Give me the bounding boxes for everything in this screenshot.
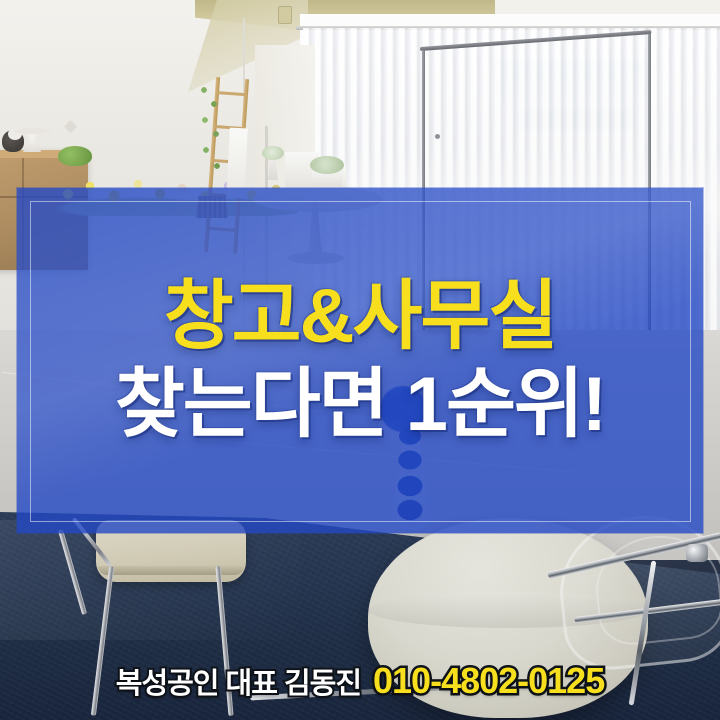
planter-greenery [310,156,344,174]
ivy-vine [198,82,230,182]
chrome-joint-knob [686,544,708,562]
phone-number[interactable]: 010-4802-0125 [373,660,604,702]
small-vase-greenery [262,146,284,160]
promo-banner: 창고&사무실 찾는다면 1순위! 복성공인 대표 김동진 010-4802-01… [0,0,720,720]
headline-line-2: 찾는다면 1순위! [115,366,605,444]
cream-chair-edge [98,566,244,575]
clothing-rack-knob [435,134,440,139]
wall-outlet [278,6,292,24]
agency-name: 복성공인 대표 김동진 [116,660,361,702]
contact-footer: 복성공인 대표 김동진 010-4802-0125 [0,660,720,702]
decor-plate [14,128,50,134]
headline-block: 창고&사무실 찾는다면 1순위! [17,188,703,533]
green-plant [58,146,92,166]
headline-line-1: 창고&사무실 [164,278,557,356]
